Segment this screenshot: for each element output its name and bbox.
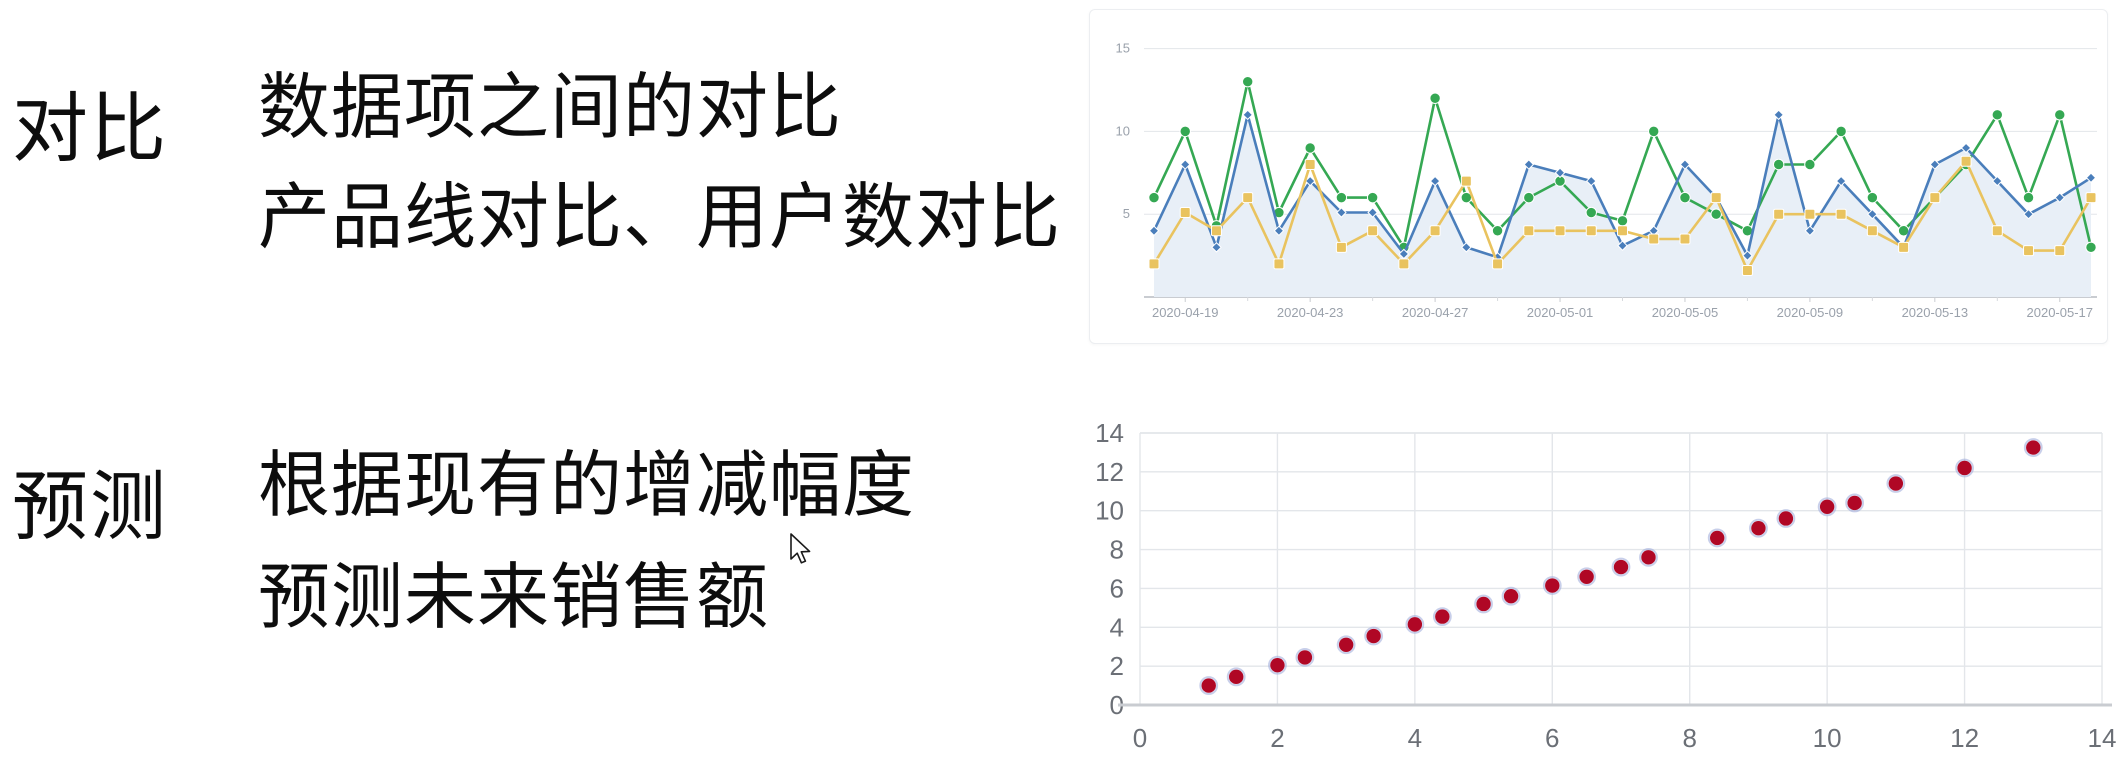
data-point [1618, 226, 1628, 236]
x-axis-tick-label: 2020-05-13 [1902, 305, 1969, 320]
data-point [1711, 209, 1721, 219]
data-point [2086, 193, 2096, 203]
forecast-scatter-chart: 0246810121402468101214 [1080, 395, 2116, 779]
keyword-forecast: 预测 [12, 470, 168, 546]
data-point [1992, 226, 2002, 236]
comparison-line-chart: 510152020-04-192020-04-232020-04-272020-… [1090, 10, 2105, 341]
data-point [1431, 176, 1440, 185]
data-point [1617, 216, 1627, 226]
data-point [1367, 192, 1377, 202]
data-point [1899, 242, 1909, 252]
compare-description-line-1: 数据项之间的对比 [258, 72, 842, 144]
y-axis-tick-label: 10 [1116, 123, 1130, 138]
x-axis-tick-label: 6 [1545, 723, 1559, 753]
data-point [1461, 176, 1471, 186]
data-point [1270, 658, 1284, 672]
slide-canvas: 对比 数据项之间的对比 产品线对比、用户数对比 预测 根据现有的增减幅度 预测未… [0, 0, 2116, 779]
x-axis-tick-label: 2020-05-09 [1777, 305, 1844, 320]
x-axis-tick-label: 4 [1408, 723, 1422, 753]
data-point [1368, 226, 1378, 236]
forecast-scatter-chart-card[interactable]: 0246810121402468101214 [1080, 395, 2116, 779]
data-point [1181, 160, 1190, 169]
data-point [1774, 209, 1784, 219]
data-point [1579, 570, 1593, 584]
data-point [1180, 126, 1190, 136]
data-point [1586, 226, 1596, 236]
data-point [1149, 259, 1159, 269]
data-point [1435, 609, 1449, 623]
data-point [1524, 192, 1534, 202]
data-point [1524, 226, 1534, 236]
data-point [1889, 476, 1903, 490]
data-point [2055, 110, 2065, 120]
x-axis-tick-label: 10 [1813, 723, 1842, 753]
data-point [1649, 126, 1659, 136]
data-point [1649, 234, 1659, 244]
x-axis-tick-label: 2020-04-23 [1277, 305, 1344, 320]
y-axis-tick-label: 12 [1095, 457, 1124, 487]
data-point [1586, 207, 1596, 217]
data-point [1211, 226, 1221, 236]
data-point [1430, 93, 1440, 103]
data-point [1836, 126, 1846, 136]
data-point [1492, 226, 1502, 236]
compare-description-line-2: 产品线对比、用户数对比 [258, 182, 1061, 254]
data-point [1408, 617, 1422, 631]
data-point [1867, 192, 1877, 202]
x-axis-tick-label: 2020-05-05 [1652, 305, 1719, 320]
data-point [1680, 192, 1690, 202]
data-point [1430, 226, 1440, 236]
data-point [1476, 597, 1490, 611]
data-point [1366, 629, 1380, 643]
data-point [1847, 496, 1861, 510]
data-point [1229, 670, 1243, 684]
data-point [1805, 209, 1815, 219]
data-point [1493, 259, 1503, 269]
data-point [1274, 259, 1284, 269]
data-point [1149, 192, 1159, 202]
data-point [2023, 192, 2033, 202]
y-axis-tick-label: 14 [1095, 418, 1124, 448]
data-point [1336, 242, 1346, 252]
x-axis-tick-label: 2020-05-01 [1527, 305, 1594, 320]
data-point [2055, 246, 2065, 256]
data-point [1243, 193, 1253, 203]
keyword-compare: 对比 [12, 92, 168, 168]
data-point [1820, 500, 1834, 514]
data-point [1710, 531, 1724, 545]
x-axis-tick-label: 0 [1133, 723, 1147, 753]
data-point [1992, 110, 2002, 120]
data-point [2086, 242, 2096, 252]
data-point [1614, 560, 1628, 574]
data-point [1641, 550, 1655, 564]
data-point [1751, 521, 1765, 535]
comparison-line-chart-card[interactable]: 510152020-04-192020-04-232020-04-272020-… [1089, 9, 2108, 344]
data-point [1243, 110, 1252, 119]
y-axis-tick-label: 10 [1095, 496, 1124, 526]
data-point [1711, 193, 1721, 203]
data-point [1504, 589, 1518, 603]
data-point [1680, 234, 1690, 244]
data-point [1774, 110, 1783, 119]
data-point [2024, 246, 2034, 256]
data-point [1339, 638, 1353, 652]
y-axis-tick-label: 8 [1110, 535, 1124, 565]
data-point [1961, 156, 1971, 166]
x-axis-tick-label: 2 [1270, 723, 1284, 753]
x-axis-tick-label: 2020-05-17 [2027, 305, 2093, 320]
data-point [1202, 678, 1216, 692]
data-point [1399, 259, 1409, 269]
data-point [1336, 192, 1346, 202]
data-point [1545, 578, 1559, 592]
forecast-description-line-1: 根据现有的增减幅度 [258, 450, 915, 522]
x-axis-tick-label: 12 [1950, 723, 1979, 753]
data-point [1867, 226, 1877, 236]
data-point [1243, 76, 1253, 86]
x-axis-tick-label: 2020-04-27 [1402, 305, 1469, 320]
data-point [1773, 159, 1783, 169]
y-axis-tick-label: 4 [1110, 612, 1124, 642]
forecast-description-line-2: 预测未来销售额 [258, 562, 769, 634]
data-point [1305, 160, 1315, 170]
x-axis-tick-label: 14 [2088, 723, 2116, 753]
x-axis-tick-label: 8 [1682, 723, 1696, 753]
data-point [1180, 208, 1190, 218]
data-point [1555, 226, 1565, 236]
data-point [1930, 193, 1940, 203]
mouse-pointer-icon [789, 533, 815, 567]
y-axis-tick-label: 5 [1123, 206, 1130, 221]
y-axis-tick-label: 15 [1116, 41, 1130, 56]
data-point [1957, 461, 1971, 475]
data-point [1779, 511, 1793, 525]
data-point [1805, 159, 1815, 169]
y-axis-tick-label: 2 [1110, 651, 1124, 681]
data-point [1836, 209, 1846, 219]
data-point [1298, 650, 1312, 664]
y-axis-tick-label: 6 [1110, 573, 1124, 603]
data-point [1305, 143, 1315, 153]
data-point [2026, 440, 2040, 454]
x-axis-tick-label: 2020-04-19 [1152, 305, 1219, 320]
data-point [1742, 266, 1752, 276]
